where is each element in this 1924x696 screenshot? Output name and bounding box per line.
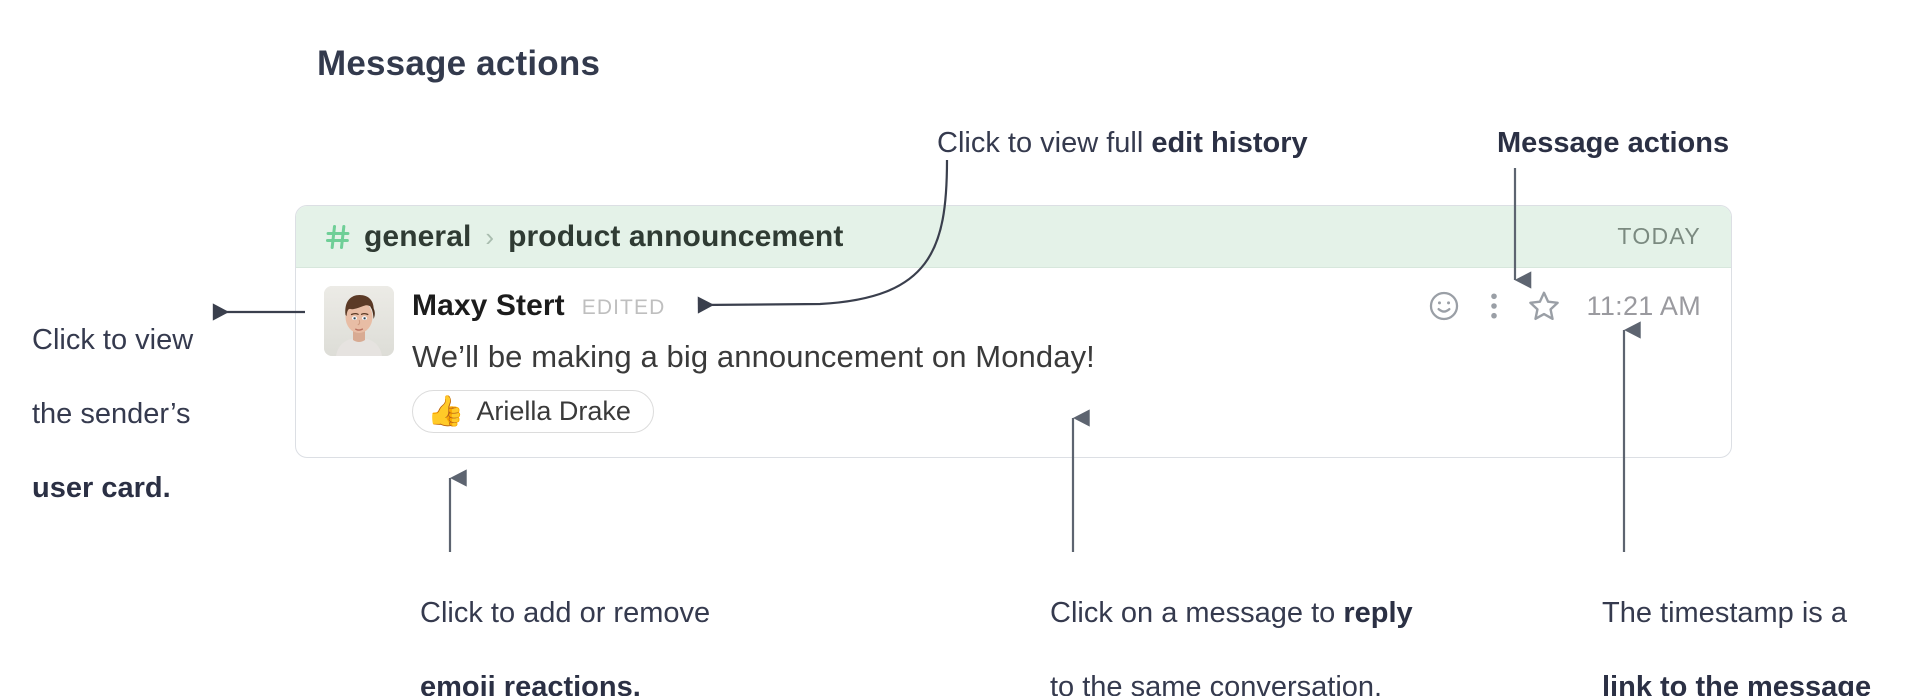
date-label-today: TODAY bbox=[1617, 223, 1701, 250]
annotation-timestamp-link-line1: The timestamp is a bbox=[1602, 595, 1922, 632]
card-header: general › product announcement TODAY bbox=[296, 206, 1731, 268]
message-headline: Maxy Stert EDITED bbox=[412, 286, 1701, 326]
breadcrumb-topic[interactable]: product announcement bbox=[508, 220, 843, 254]
annotation-emoji-reactions-line2: emoji reactions. bbox=[420, 669, 750, 696]
annotation-reply-line1-plain: Click on a message to bbox=[1050, 597, 1343, 629]
message-timestamp-link[interactable]: 11:21 AM bbox=[1587, 291, 1701, 322]
message-card: general › product announcement TODAY bbox=[295, 205, 1732, 458]
avatar[interactable] bbox=[324, 286, 394, 356]
annotation-user-card-line3: user card. bbox=[32, 470, 282, 507]
annotation-timestamp-link: The timestamp is a link to the message (… bbox=[1602, 558, 1922, 696]
annotation-edit-history-line1-plain: Click to view full bbox=[937, 127, 1151, 159]
annotation-reply-line1: Click on a message to reply bbox=[1050, 595, 1450, 632]
annotation-edit-history-line1-strong: edit history bbox=[1151, 127, 1307, 159]
reaction-pill[interactable]: 👍 Ariella Drake bbox=[412, 390, 654, 433]
annotation-user-card-line1: Click to view bbox=[32, 322, 282, 359]
emoji-reaction-icon[interactable] bbox=[1419, 286, 1469, 326]
message-text[interactable]: We’ll be making a big announcement on Mo… bbox=[412, 336, 1701, 378]
annotation-emoji-reactions: Click to add or remove emoji reactions. bbox=[420, 558, 750, 696]
annotation-reply: Click on a message to reply to the same … bbox=[1050, 558, 1450, 696]
hash-icon bbox=[324, 222, 352, 252]
breadcrumb-separator-icon: › bbox=[485, 224, 494, 250]
annotation-reply-line1-strong: reply bbox=[1343, 597, 1412, 629]
annotation-user-card-line2: the sender’s bbox=[32, 396, 282, 433]
message-actions: 11:21 AM bbox=[1419, 286, 1701, 326]
breadcrumb-channel[interactable]: general bbox=[364, 220, 471, 254]
reactions-list: 👍 Ariella Drake bbox=[412, 390, 1701, 433]
message-row[interactable]: Maxy Stert EDITED bbox=[296, 268, 1731, 433]
page-title: Message actions bbox=[317, 42, 600, 86]
screenshot-root: Message actions Click to view the sender… bbox=[0, 0, 1924, 696]
annotation-emoji-reactions-line1: Click to add or remove bbox=[420, 595, 750, 632]
thumbs-up-emoji: 👍 bbox=[427, 397, 464, 427]
star-icon[interactable] bbox=[1519, 286, 1569, 326]
reaction-user-name: Ariella Drake bbox=[476, 396, 631, 427]
annotation-user-card: Click to view the sender’s user card. bbox=[32, 285, 282, 544]
annotation-actions-menu-line1: Message actions bbox=[1497, 125, 1797, 162]
avatar-image bbox=[324, 286, 394, 356]
annotation-timestamp-link-line2: link to the message bbox=[1602, 669, 1922, 696]
annotation-reply-line2: to the same conversation. bbox=[1050, 669, 1450, 696]
sender-name[interactable]: Maxy Stert bbox=[412, 289, 565, 323]
message-actions-menu-icon[interactable] bbox=[1469, 286, 1519, 326]
edited-badge[interactable]: EDITED bbox=[582, 292, 666, 320]
annotation-edit-history-line1: Click to view full edit history bbox=[937, 125, 1367, 162]
message-main: Maxy Stert EDITED bbox=[412, 286, 1701, 433]
